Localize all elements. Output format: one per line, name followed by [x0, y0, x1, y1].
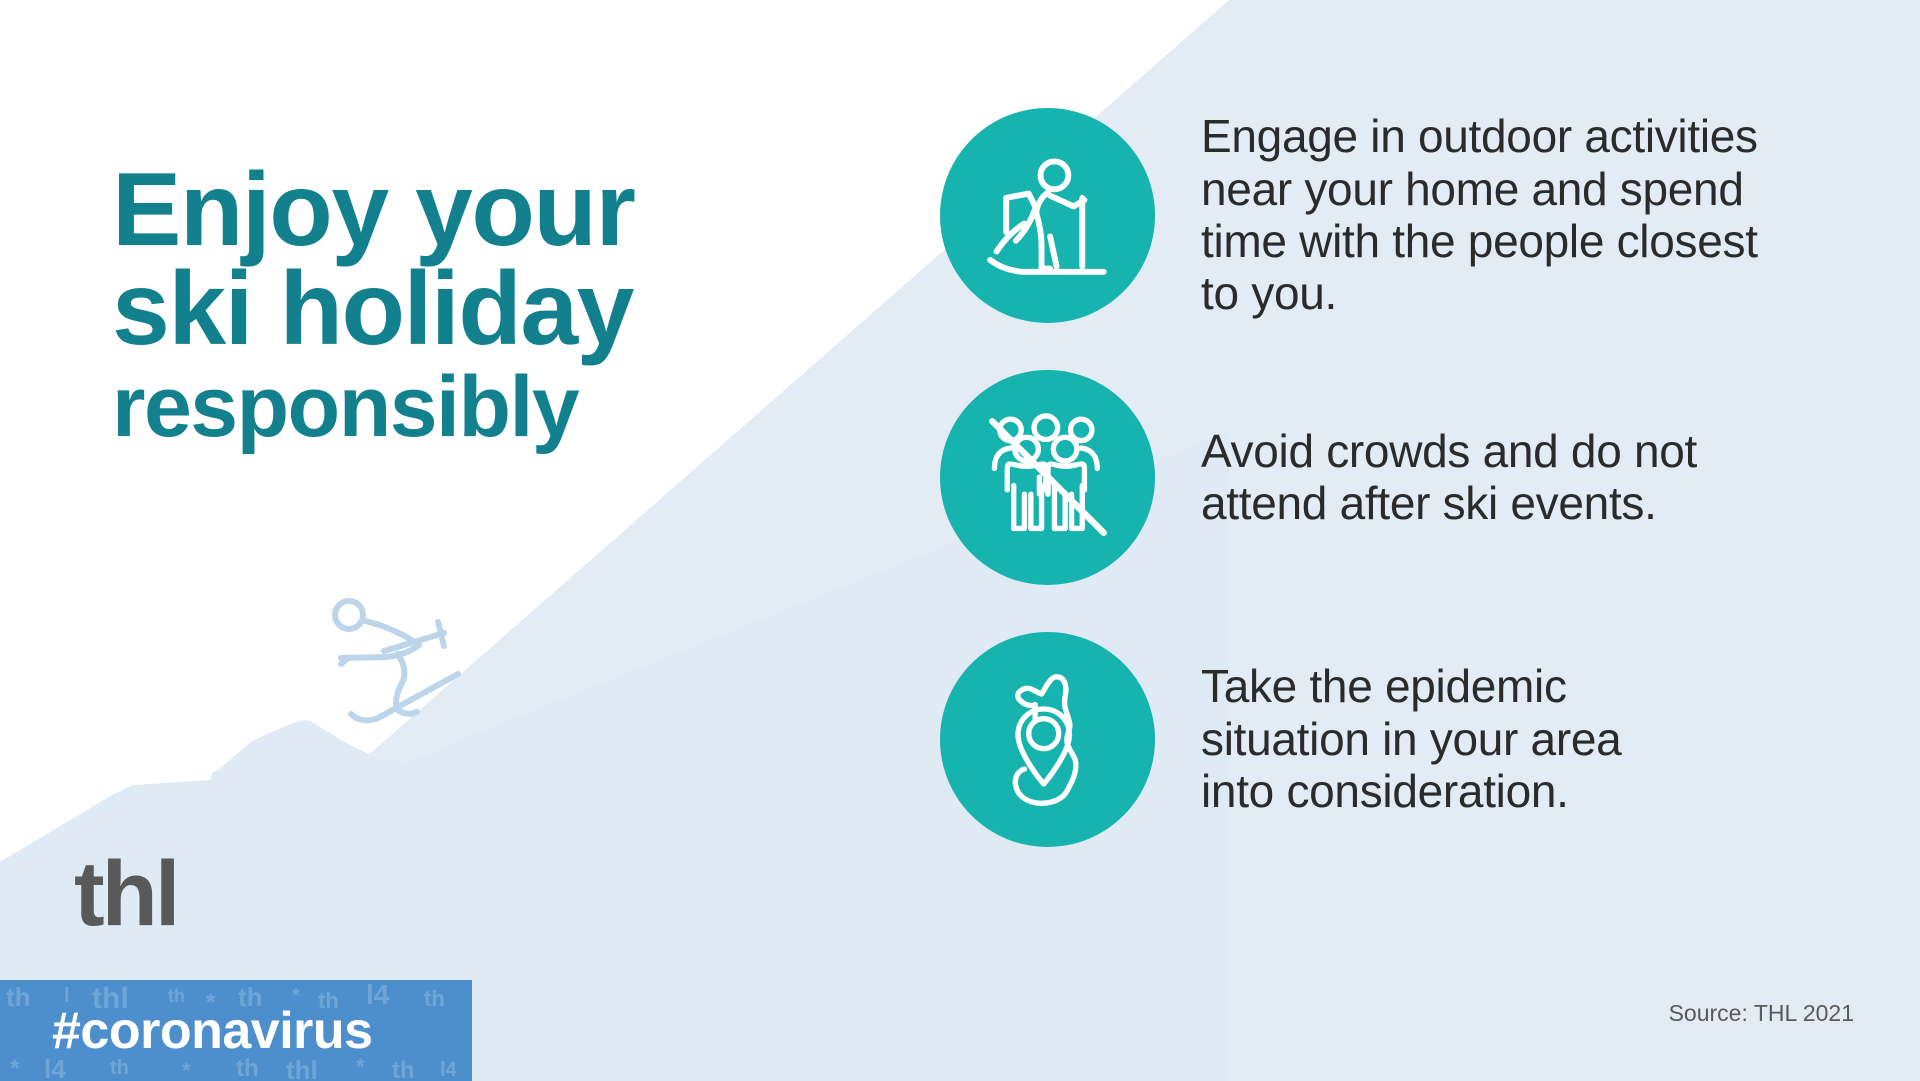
tip-text: Avoid crowds and do not attend after ski…: [1201, 425, 1697, 530]
svg-text:th: th: [424, 986, 445, 1011]
source-attribution: Source: THL 2021: [1669, 1000, 1854, 1027]
left-column: Enjoy your ski holiday responsibly thl: [0, 0, 960, 1081]
cross-country-skier-icon: [940, 108, 1155, 323]
svg-text:th: th: [392, 1057, 415, 1081]
headline-line-3: responsibly: [112, 367, 932, 449]
headline-line-1: Enjoy your: [112, 161, 932, 260]
tip-text: Engage in outdoor activities near your h…: [1201, 110, 1758, 320]
svg-text:*: *: [182, 1058, 191, 1081]
tip-line: Engage in outdoor activities: [1201, 110, 1758, 162]
downhill-skier-watermark-icon: [318, 588, 508, 738]
svg-text:l4: l4: [440, 1059, 458, 1081]
tip-line: situation in your area: [1201, 713, 1621, 765]
tip-text: Take the epidemic situation in your area…: [1201, 660, 1621, 817]
tip-line: to you.: [1201, 267, 1758, 319]
headline-line-2: ski holiday: [112, 260, 932, 359]
tip-line: time with the people closest: [1201, 215, 1758, 267]
finland-map-pin-icon: [940, 632, 1155, 847]
tip-line: Avoid crowds and do not: [1201, 425, 1697, 477]
infographic-poster: Enjoy your ski holiday responsibly thl: [0, 0, 1920, 1081]
svg-text:th: th: [6, 982, 31, 1012]
tip-line: Take the epidemic: [1201, 660, 1621, 712]
thl-logo: thl: [74, 848, 177, 940]
tip-line: attend after ski events.: [1201, 477, 1697, 529]
tip-line: near your home and spend: [1201, 163, 1758, 215]
tip-row: Engage in outdoor activities near your h…: [940, 84, 1860, 346]
tips-list: Engage in outdoor activities near your h…: [940, 84, 1860, 870]
no-crowds-icon: [940, 370, 1155, 585]
svg-text:*: *: [10, 1055, 20, 1081]
tip-row: Avoid crowds and do not attend after ski…: [940, 346, 1860, 608]
tip-line: into consideration.: [1201, 765, 1621, 817]
hashtag-banner: th l thl th * th * th l4 th * l4 th * th…: [0, 980, 472, 1081]
tip-row: Take the epidemic situation in your area…: [940, 608, 1860, 870]
hashtag-label: #coronavirus: [52, 1001, 373, 1061]
page-title: Enjoy your ski holiday responsibly: [112, 161, 932, 448]
